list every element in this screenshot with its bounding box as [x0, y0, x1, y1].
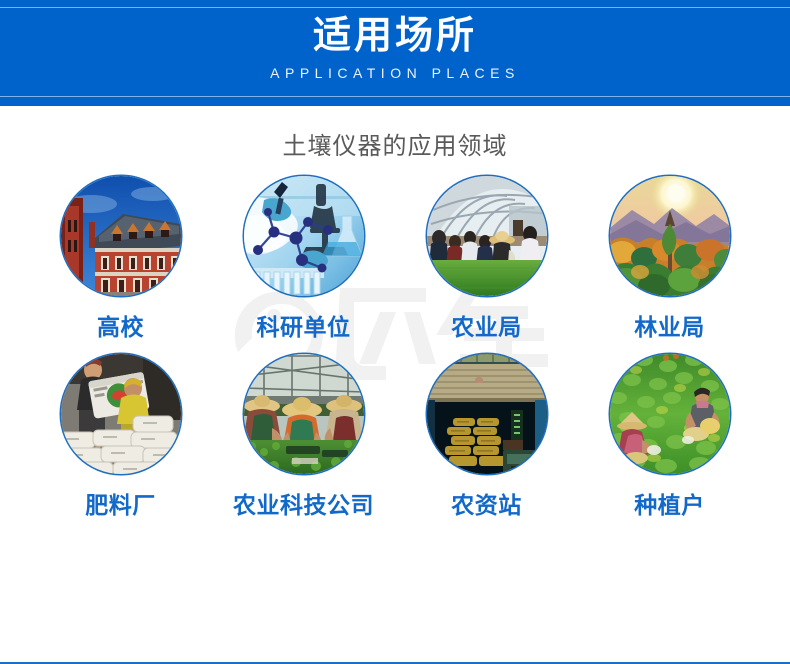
place-label: 种植户	[634, 490, 705, 520]
place-label: 农资站	[451, 490, 522, 520]
section-heading: 土壤仪器的应用领域	[0, 132, 790, 162]
banner-title: 适用场所	[313, 11, 477, 61]
place-label: 农业局	[451, 312, 522, 342]
forestry-landscape-image	[610, 176, 730, 296]
place-card-university[interactable]: 高校	[29, 176, 212, 342]
place-card-agriculture-bureau[interactable]: 农业局	[395, 176, 578, 342]
banner-divider-top	[0, 7, 790, 8]
place-card-research-institute[interactable]: 科研单位	[212, 176, 395, 342]
agriculture-bureau-field-image	[427, 176, 547, 296]
application-places-grid: 高校	[0, 176, 790, 520]
place-label: 林业局	[634, 312, 705, 342]
place-card-forestry-bureau[interactable]: 林业局	[578, 176, 761, 342]
place-label: 高校	[97, 312, 144, 342]
growers-field-image	[610, 354, 730, 474]
agri-supply-store-image	[427, 354, 547, 474]
banner-content: 适用场所 APPLICATION PLACES	[0, 9, 790, 95]
fertilizer-factory-image	[61, 354, 181, 474]
university-building-image	[61, 176, 181, 296]
place-label: 肥料厂	[85, 490, 156, 520]
place-card-agritech-company[interactable]: 农业科技公司	[212, 354, 395, 520]
research-laboratory-image	[244, 176, 364, 296]
page-banner: 适用场所 APPLICATION PLACES	[0, 0, 790, 106]
place-card-growers[interactable]: 种植户	[578, 354, 761, 520]
agritech-greenhouse-image	[244, 354, 364, 474]
banner-divider-bottom	[0, 96, 790, 97]
place-card-fertilizer-factory[interactable]: 肥料厂	[29, 354, 212, 520]
place-card-agri-supply-station[interactable]: 农资站	[395, 354, 578, 520]
grid-row: 高校	[0, 176, 790, 342]
place-label: 科研单位	[257, 312, 351, 342]
grid-row: 肥料厂	[0, 354, 790, 520]
place-label: 农业科技公司	[233, 490, 374, 520]
banner-subtitle: APPLICATION PLACES	[270, 63, 520, 83]
